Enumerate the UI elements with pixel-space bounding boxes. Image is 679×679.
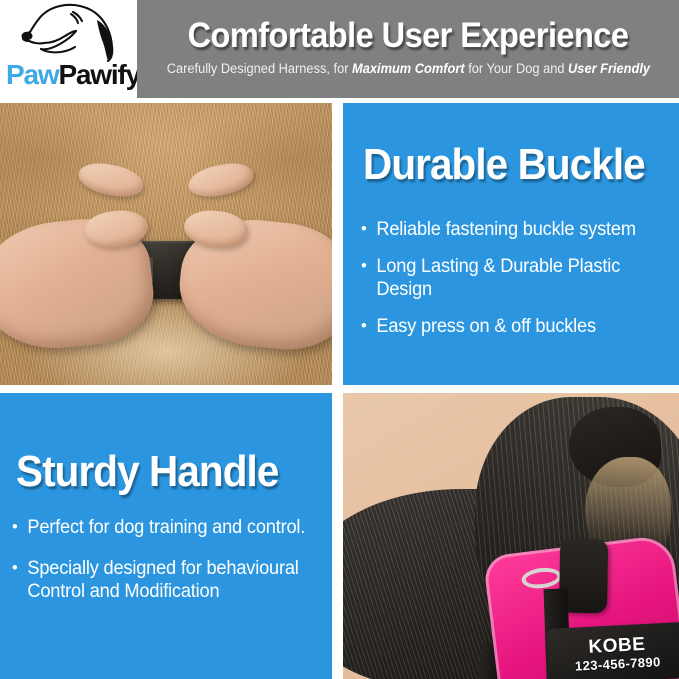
logo-word-secondary: Pawify xyxy=(58,59,140,90)
list-item: Long Lasting & Durable Plastic Design xyxy=(361,255,659,301)
header-banner: PawPawify Comfortable User Experience Ca… xyxy=(0,0,679,98)
list-item: Specially designed for behavioural Contr… xyxy=(12,557,314,603)
banner-title: Comfortable User Experience xyxy=(188,16,629,56)
durable-buckle-bullet-list: Reliable fastening buckle system Long La… xyxy=(361,218,671,352)
list-item: Perfect for dog training and control. xyxy=(12,516,314,539)
logo-wordmark: PawPawify xyxy=(6,60,134,90)
subtitle-part-2: for Your Dog and xyxy=(464,61,567,76)
brand-logo: PawPawify xyxy=(0,0,137,98)
logo-word-primary: Paw xyxy=(6,59,58,90)
subtitle-emphasis-2: User Friendly xyxy=(568,61,650,76)
subtitle-emphasis-1: Maximum Comfort xyxy=(352,61,465,76)
banner-gray-bar: Comfortable User Experience Carefully De… xyxy=(137,0,679,98)
banner-subtitle: Carefully Designed Harness, for Maximum … xyxy=(166,60,649,78)
list-item: Reliable fastening buckle system xyxy=(361,218,659,241)
durable-buckle-heading: Durable Buckle xyxy=(363,141,645,189)
panel-durable-buckle: Durable Buckle Reliable fastening buckle… xyxy=(343,103,679,385)
photo-dog-wearing-harness: KOBE 123-456-7890 xyxy=(343,393,679,679)
sturdy-handle-heading: Sturdy Handle xyxy=(16,448,278,496)
panel-sturdy-handle: Sturdy Handle Perfect for dog training a… xyxy=(0,393,332,679)
sturdy-handle-bullet-list: Perfect for dog training and control. Sp… xyxy=(12,516,327,621)
subtitle-part-1: Carefully Designed Harness, for xyxy=(166,61,351,76)
list-item: Easy press on & off buckles xyxy=(361,315,659,338)
dog-head-line-art-icon xyxy=(15,2,123,62)
harness-name-patch: KOBE 123-456-7890 xyxy=(546,622,679,679)
pink-harness: KOBE 123-456-7890 xyxy=(483,534,679,679)
patch-phone-number: 123-456-7890 xyxy=(575,654,661,673)
harness-d-ring xyxy=(520,566,562,591)
photo-buckle-fastening xyxy=(0,103,332,385)
infographic-page: PawPawify Comfortable User Experience Ca… xyxy=(0,0,679,679)
